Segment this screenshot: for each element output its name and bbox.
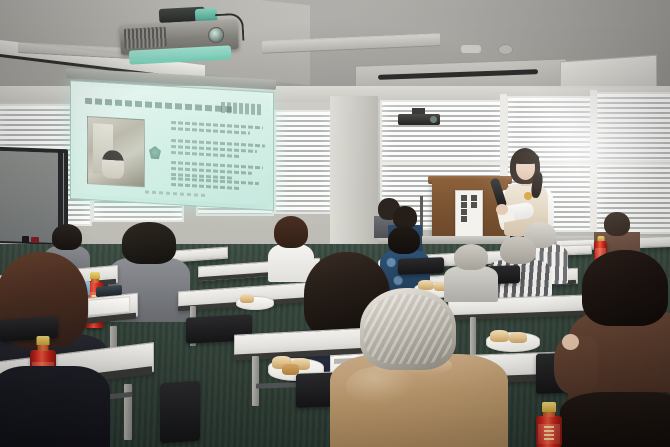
- hair-texture: [364, 294, 452, 364]
- slide-photo-person: [102, 150, 124, 179]
- slide-logo: [221, 102, 261, 115]
- person-head: [122, 222, 176, 264]
- slide-paragraph: [171, 139, 265, 163]
- projection-screen: [70, 80, 274, 211]
- person-body: [560, 392, 670, 447]
- slide-leaf-icon: [149, 146, 161, 160]
- slide-surface: [75, 85, 269, 206]
- bottle-cap: [542, 402, 556, 412]
- stacking-chair: [160, 381, 200, 444]
- slide-title-text: [85, 98, 235, 113]
- bread-slice: [509, 332, 527, 343]
- shoulder-highlight: [346, 366, 416, 406]
- person-head: [604, 212, 630, 236]
- slide-photo: [87, 116, 145, 187]
- wall-pillar: [330, 96, 378, 246]
- red-tea-bottle: [536, 402, 562, 447]
- audience-member: [560, 392, 670, 447]
- projector-lens-icon: [430, 116, 437, 123]
- audience-member: [0, 366, 110, 447]
- stacking-chair: [398, 257, 444, 275]
- vertical-name-placard: [455, 190, 483, 238]
- person-head: [52, 224, 82, 250]
- bottle-cap: [597, 236, 604, 241]
- placard-character-column: [470, 195, 478, 208]
- slide-footer-text: [145, 190, 205, 197]
- bread-slice: [240, 294, 254, 303]
- seminar-room-photo: [0, 0, 670, 447]
- presenter-hair-front: [512, 152, 539, 164]
- person-head: [454, 244, 488, 270]
- window-blinds[interactable]: [274, 110, 334, 214]
- ceiling-projector: [119, 9, 239, 57]
- projector-vent-grille: [124, 27, 167, 49]
- audience-member-foreground: [330, 288, 508, 447]
- person-head: [274, 216, 308, 248]
- person-head: [582, 250, 668, 326]
- presenter-hand: [496, 204, 508, 215]
- person-head: [388, 226, 420, 254]
- whiteboard-marker[interactable]: [22, 236, 29, 243]
- bottle-label-text: [544, 426, 554, 442]
- bottle-neck: [38, 344, 49, 351]
- person-hand: [562, 334, 579, 350]
- sprinkler-icon: [498, 44, 513, 55]
- placard-character-column: [460, 195, 468, 222]
- ceiling-projector-secondary: [398, 110, 440, 128]
- whiteboard-marker[interactable]: [31, 237, 39, 243]
- slide-paragraph: [171, 121, 263, 138]
- bottle-cap: [37, 336, 50, 345]
- smoke-detector-icon: [460, 44, 482, 54]
- desk-leg: [252, 356, 259, 406]
- person-head: [500, 236, 536, 264]
- person-body: [0, 366, 110, 447]
